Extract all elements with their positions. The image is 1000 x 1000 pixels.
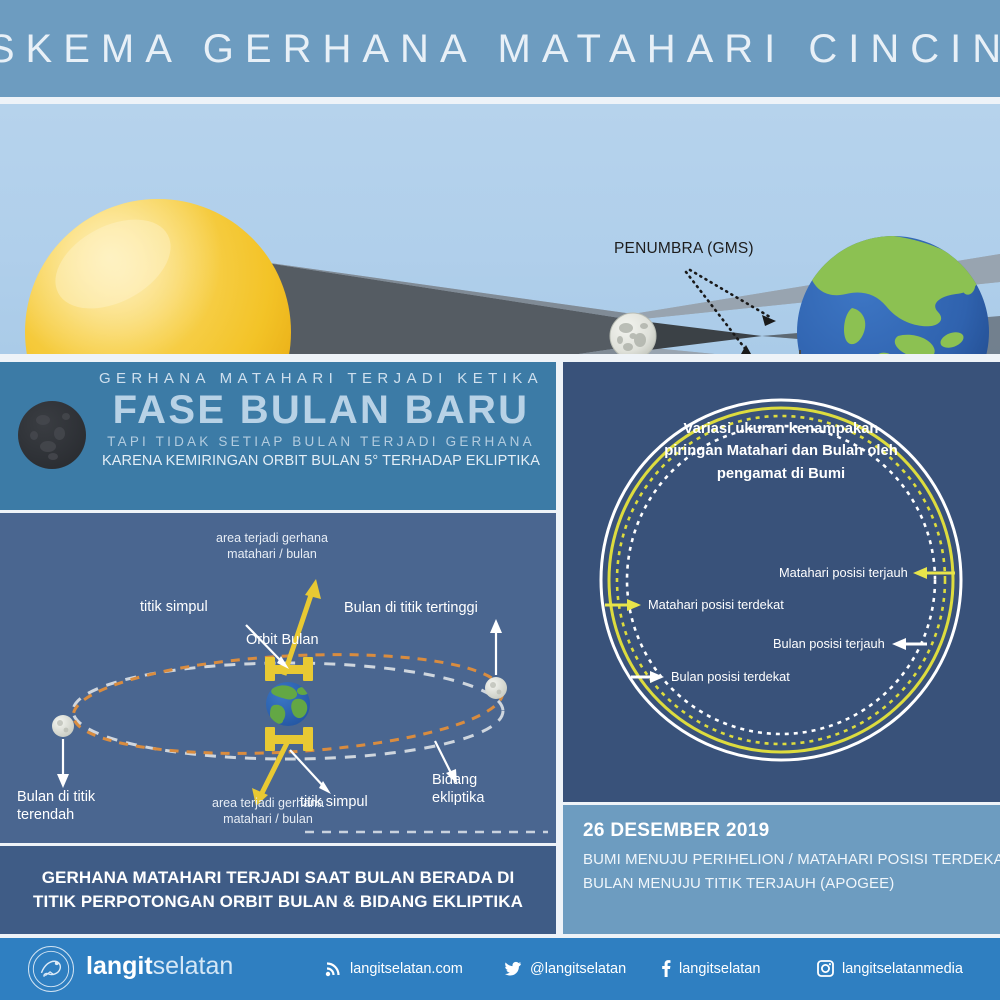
instagram-icon — [817, 960, 834, 977]
footer-link-website-text: langitselatan.com — [350, 961, 463, 977]
eclipse-geometry-svg — [0, 104, 1000, 354]
footer-link-instagram[interactable]: langitselatanmedia — [817, 960, 963, 977]
brand-wordmark: langitselatan — [86, 954, 233, 979]
new-moon-text-block: GERHANA MATAHARI TERJADI KETIKA FASE BUL… — [96, 370, 546, 469]
separator-vertical — [556, 362, 563, 938]
footer-link-instagram-text: langitselatanmedia — [842, 961, 963, 977]
footer-link-facebook-text: langitselatan — [679, 961, 760, 977]
separator-diagram — [0, 354, 1000, 362]
event-date: 26 DESEMBER 2019 — [583, 820, 769, 842]
separator-footer — [0, 934, 1000, 938]
earth-icon-small — [266, 682, 310, 726]
infographic-root: SKEMA GERHANA MATAHARI CINCIN — [0, 0, 1000, 1000]
label-eclipse-area-top: area terjadi gerhana matahari / bulan — [182, 531, 362, 562]
earth-sphere — [796, 234, 993, 354]
orbit-caption-line-1: GERHANA MATAHARI TERJADI SAAT BULAN BERA… — [42, 866, 515, 890]
label-sun-farthest: Matahari posisi terjauh — [779, 565, 908, 580]
moon-lowest-point — [52, 715, 74, 737]
moon-low-arrowhead — [57, 774, 69, 788]
separator-circles — [563, 802, 1000, 805]
label-moon-farthest: Bulan posisi terjauh — [773, 636, 885, 651]
footer-link-twitter[interactable]: @langitselatan — [505, 960, 626, 977]
moon-high-arrowhead — [490, 619, 502, 633]
page-title: SKEMA GERHANA MATAHARI CINCIN — [0, 29, 1000, 69]
arrowhead-moon-farthest — [892, 638, 906, 650]
separator-orbit — [0, 843, 556, 846]
facebook-icon — [661, 960, 671, 977]
ecliptic-label-arrow — [435, 741, 452, 775]
node-label-arrow-bottom — [290, 750, 324, 787]
twitter-icon — [505, 960, 522, 977]
event-date-panel: 26 DESEMBER 2019 BUMI MENUJU PERIHELION … — [563, 805, 1000, 934]
moon-orbit-diagram: area terjadi gerhana matahari / bulan ti… — [0, 513, 556, 843]
arrowhead-sun-nearest — [627, 599, 641, 611]
arrowhead-sun-farthest — [913, 567, 927, 579]
arrowhead-moon-nearest — [650, 671, 664, 683]
fase-line-1: GERHANA MATAHARI TERJADI KETIKA — [96, 370, 546, 387]
label-sun-nearest: Matahari posisi terdekat — [648, 597, 784, 612]
sun-sphere — [25, 199, 291, 354]
header-band: SKEMA GERHANA MATAHARI CINCIN — [0, 0, 1000, 97]
label-penumbra: PENUMBRA (GMS) — [614, 240, 754, 258]
moon-sphere — [610, 313, 656, 354]
label-moon-orbit: Orbit Bulan — [246, 631, 319, 649]
label-moon-highest: Bulan di titik tertinggi — [344, 599, 478, 617]
node-marker-bottom — [265, 727, 313, 751]
separator-fase — [0, 510, 556, 513]
brand-light-text: selatan — [153, 952, 234, 980]
orbit-caption-line-2: TITIK PERPOTONGAN ORBIT BULAN & BIDANG E… — [33, 890, 523, 914]
footer-link-facebook[interactable]: langitselatan — [661, 960, 760, 977]
event-detail-1: BUMI MENUJU PERIHELION / MATAHARI POSISI… — [583, 851, 1000, 868]
moon-highest-point — [485, 677, 507, 699]
label-ecliptic-plane: Bidang ekliptika — [432, 771, 484, 807]
event-detail-2: BULAN MENUJU TITIK TERJAUH (APOGEE) — [583, 875, 894, 892]
footer-bar: langitselatan langitselatan.com @langits… — [0, 938, 1000, 1000]
penumbra-arrowhead-2 — [741, 345, 755, 354]
new-moon-icon — [18, 401, 86, 469]
brand-bold-text: langit — [86, 952, 153, 980]
fase-headline: FASE BULAN BARU — [96, 389, 546, 431]
label-moon-lowest: Bulan di titik terendah — [17, 788, 95, 824]
label-moon-nearest: Bulan posisi terdekat — [671, 669, 790, 684]
langitselatan-logo — [28, 946, 74, 992]
orbit-caption-banner: GERHANA MATAHARI TERJADI SAAT BULAN BERA… — [0, 846, 556, 934]
label-node-top: titik simpul — [140, 598, 208, 616]
footer-link-website[interactable]: langitselatan.com — [325, 960, 463, 977]
rss-icon — [325, 960, 342, 977]
logo-mark-icon — [29, 947, 73, 991]
eclipse-area-arrowhead-top — [305, 579, 321, 599]
separator-header — [0, 97, 1000, 104]
label-node-bottom: titik simpul — [300, 793, 368, 811]
apparent-size-diagram: Variasi ukuran kenampakan piringan Matah… — [563, 362, 1000, 802]
fase-line-3: TAPI TIDAK SETIAP BULAN TERJADI GERHANA — [96, 434, 546, 449]
eclipse-geometry-diagram: PENUMBRA (GMS) UMBRA (GMT) ANTUMBRA (GMC… — [0, 104, 1000, 354]
footer-link-twitter-text: @langitselatan — [530, 961, 626, 977]
fase-line-4: KARENA KEMIRINGAN ORBIT BULAN 5° TERHADA… — [96, 453, 546, 469]
apparent-size-title: Variasi ukuran kenampakan piringan Matah… — [631, 418, 931, 485]
